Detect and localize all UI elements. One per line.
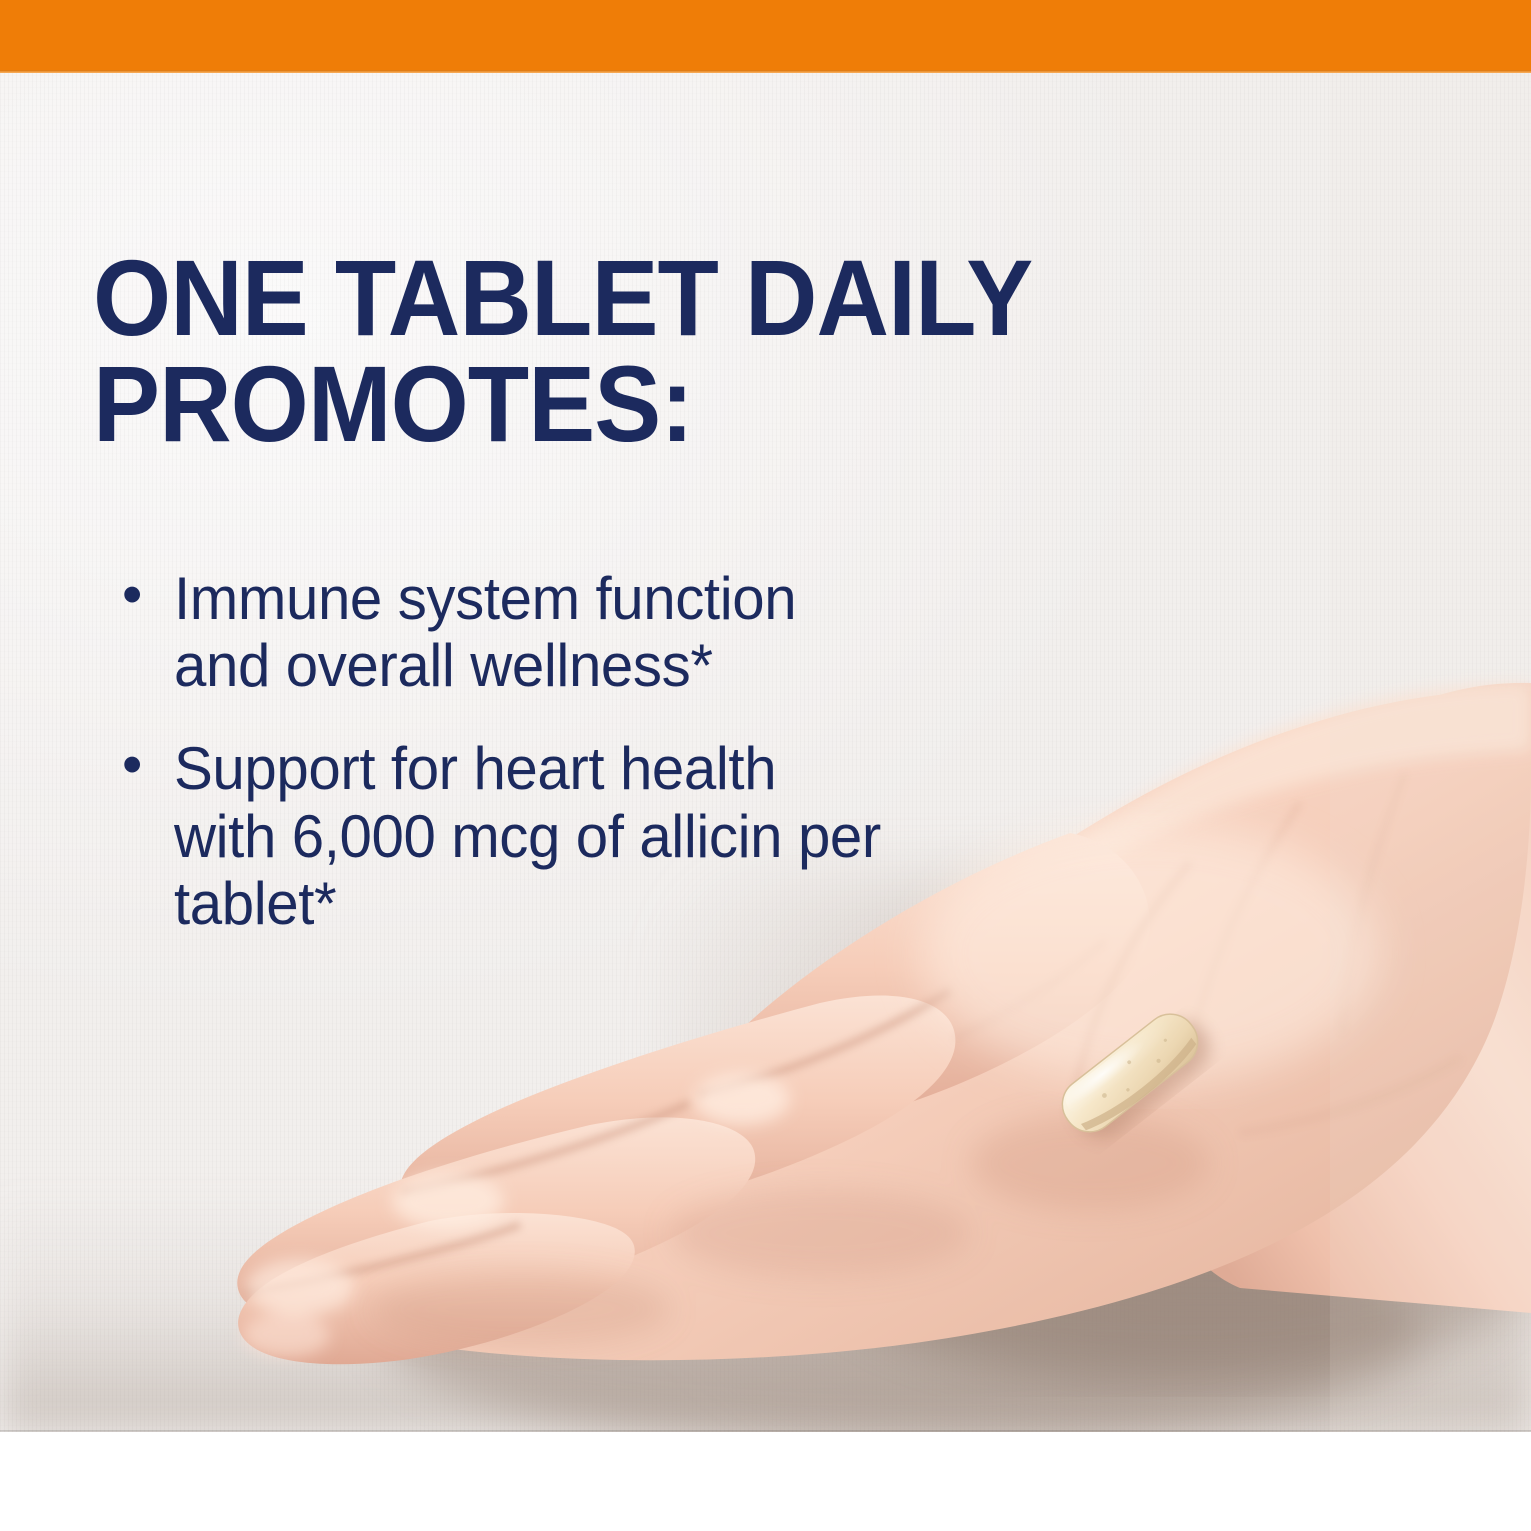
product-marketing-image: ONE TABLET DAILY PROMOTES: • Immune syst… [0,0,1531,1531]
footer: *These statements have not been evaluate… [0,1432,1531,1531]
page-title: ONE TABLET DAILY PROMOTES: [93,245,1209,457]
benefit-text: Support for heart health with 6,000 mcg … [174,735,894,937]
list-item: • Support for heart health with 6,000 mc… [116,735,916,937]
list-item: • Immune system function and overall wel… [116,565,916,699]
benefit-list: • Immune system function and overall wel… [116,565,916,973]
bullet-dot-icon: • [116,735,174,794]
benefit-text: Immune system function and overall welln… [174,565,894,699]
product-photo: ONE TABLET DAILY PROMOTES: • Immune syst… [0,73,1531,1432]
orange-brand-band [0,0,1531,73]
bullet-dot-icon: • [116,565,174,624]
